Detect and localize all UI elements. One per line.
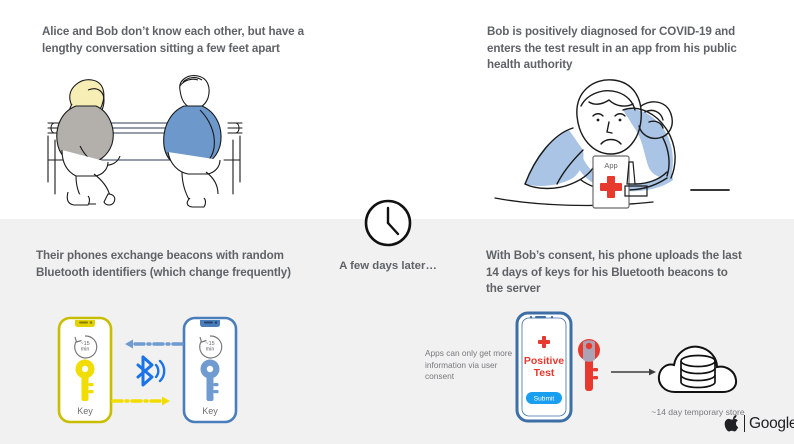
panel-bob-diagnosis: Bob is positively diagnosed for COVID-19… xyxy=(487,24,745,74)
panel-alice-bob: Alice and Bob don’t know each other, but… xyxy=(42,24,304,57)
server-cloud-icon xyxy=(659,347,736,392)
center-transition-label: A few days later… xyxy=(313,258,463,274)
bob-key-label: Key xyxy=(202,406,218,416)
positive-test-result-line2: Test xyxy=(534,367,555,379)
alice-phone-rotation-line2: min xyxy=(81,347,90,353)
consent-note-text: Apps can only get more information via u… xyxy=(425,348,521,383)
panel-bob-diagnosis-caption: Bob is positively diagnosed for COVID-19… xyxy=(487,24,745,74)
phone-uploads-keys-to-server: Positive Test Submit xyxy=(513,310,748,425)
positive-test-result-line1: Positive xyxy=(524,355,564,367)
bob-worried-with-phone-illustration: App xyxy=(477,72,739,208)
phone-app-label: App xyxy=(604,161,617,170)
bob-phone: ~15 min Key xyxy=(184,318,236,422)
panel-beacons-caption: Their phones exchange beacons with rando… xyxy=(36,248,321,281)
alice-key-label: Key xyxy=(77,406,93,416)
panel-upload-caption: With Bob’s consent, his phone uploads th… xyxy=(486,248,742,298)
center-transition-label-wrap: A few days later… xyxy=(313,258,463,274)
panel-upload: With Bob’s consent, his phone uploads th… xyxy=(486,248,742,298)
panel-beacons: Their phones exchange beacons with rando… xyxy=(36,248,321,281)
logo-divider xyxy=(744,415,745,432)
apple-logo-icon xyxy=(726,415,740,432)
consent-note: Apps can only get more information via u… xyxy=(425,348,521,383)
clock-icon xyxy=(363,198,413,248)
panel-alice-bob-caption: Alice and Bob don’t know each other, but… xyxy=(42,24,304,57)
google-wordmark: Google xyxy=(749,415,794,432)
alice-phone: ~15 min Key xyxy=(59,318,111,422)
apple-google-logo: Google xyxy=(726,413,794,433)
upload-key-icon xyxy=(578,339,600,391)
two-phones-exchanging-bluetooth-beacons: ~15 min Key xyxy=(55,315,240,427)
beacon-arrow-to-bob xyxy=(113,397,170,406)
bluetooth-icon xyxy=(138,357,164,385)
beacon-arrow-to-alice xyxy=(125,340,182,349)
submit-button-label: Submit xyxy=(534,396,555,403)
positive-test-phone: Positive Test Submit xyxy=(517,313,571,421)
alice-bob-on-bench-illustration xyxy=(32,72,262,208)
infographic-root: Alice and Bob don’t know each other, but… xyxy=(0,0,794,444)
upload-arrow xyxy=(611,369,656,376)
bob-phone-rotation-line2: min xyxy=(206,347,215,353)
